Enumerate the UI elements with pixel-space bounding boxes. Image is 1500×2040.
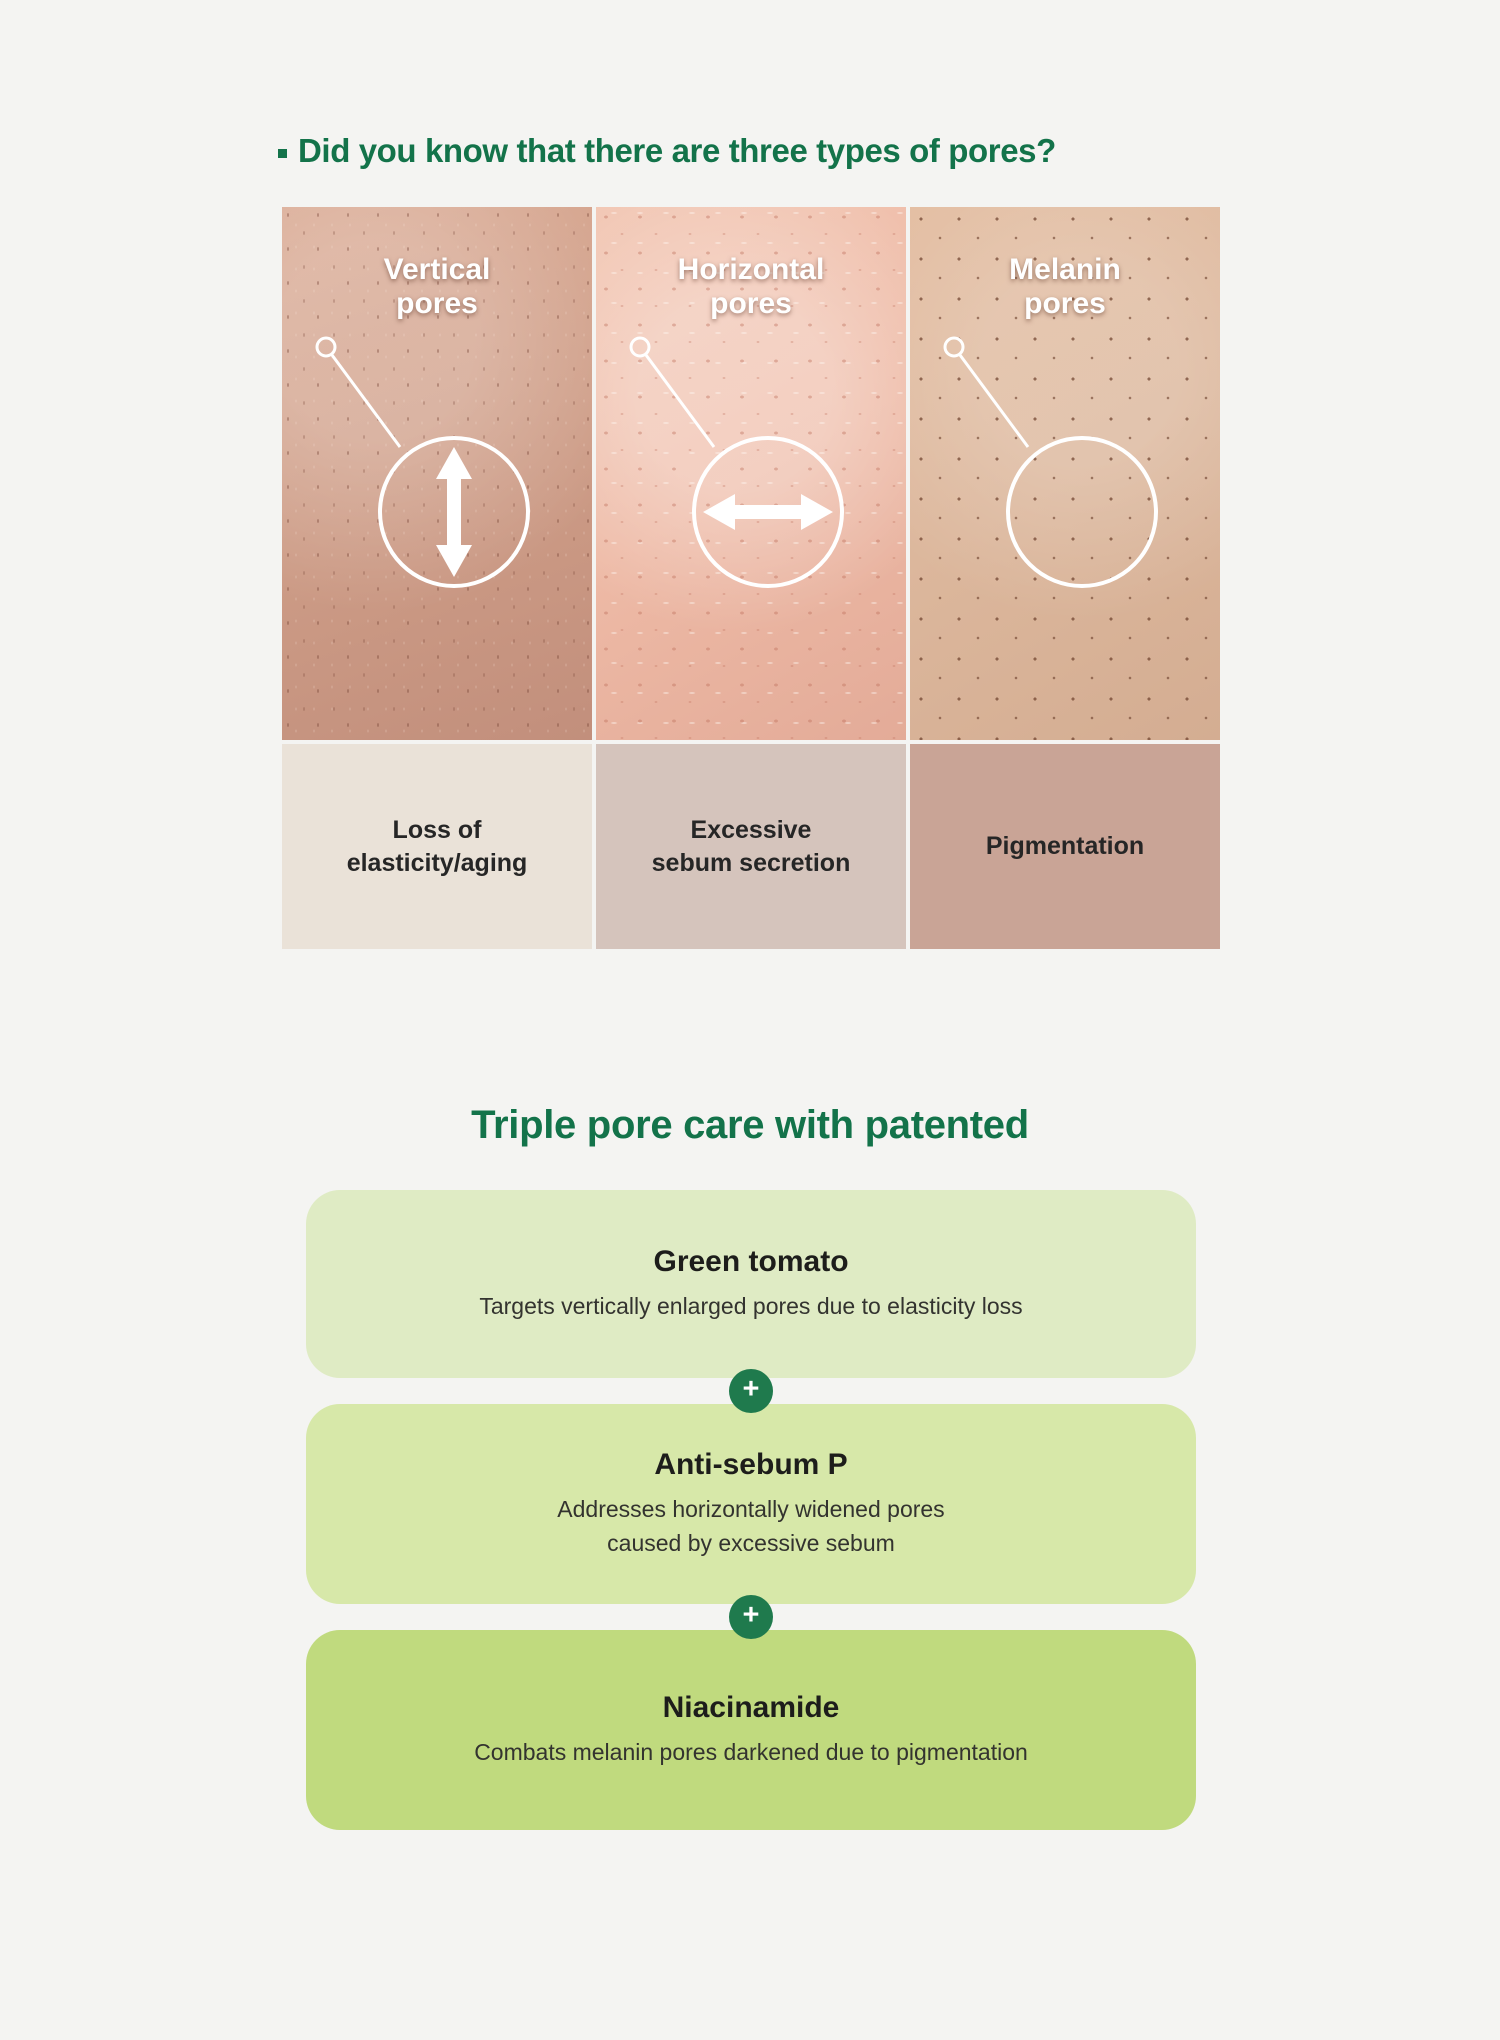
ingredient-title: Green tomato — [653, 1245, 848, 1279]
ingredient-title: Anti-sebum P — [654, 1448, 847, 1482]
pore-caption-horizontal: Excessive sebum secretion — [596, 744, 906, 949]
pore-image-row: Vertical pores Ho — [282, 207, 1220, 740]
ingredient-description: Targets vertically enlarged pores due to… — [479, 1290, 1022, 1323]
ingredient-title: Niacinamide — [663, 1691, 840, 1725]
pore-panel-label-melanin: Melanin pores — [910, 253, 1220, 321]
plus-connector-1: + — [306, 1378, 1196, 1404]
pore-types-board: Vertical pores Ho — [282, 207, 1220, 949]
pore-panel-melanin: Melanin pores — [910, 207, 1220, 740]
square-bullet-icon — [278, 149, 287, 158]
ingredient-card-anti-sebum-p[interactable]: Anti-sebum P Addresses horizontally wide… — [306, 1404, 1196, 1604]
page-heading-text: Did you know that there are three types … — [298, 132, 1056, 170]
pore-panel-vertical: Vertical pores — [282, 207, 592, 740]
ingredient-card-stack: Green tomato Targets vertically enlarged… — [306, 1190, 1196, 1830]
pore-panel-label-horizontal: Horizontal pores — [596, 253, 906, 321]
pore-caption-melanin: Pigmentation — [910, 744, 1220, 949]
pore-panel-horizontal: Horizontal pores — [596, 207, 906, 740]
pore-caption-row: Loss of elasticity/aging Excessive sebum… — [282, 744, 1220, 949]
ingredient-card-green-tomato[interactable]: Green tomato Targets vertically enlarged… — [306, 1190, 1196, 1378]
page-heading: Did you know that there are three types … — [278, 132, 1056, 170]
pore-panel-label-vertical: Vertical pores — [282, 253, 592, 321]
ingredient-card-niacinamide[interactable]: Niacinamide Combats melanin pores darken… — [306, 1630, 1196, 1830]
headline-line-1: Triple pore care with patented — [471, 1103, 1029, 1147]
plus-icon: + — [729, 1369, 773, 1413]
pore-caption-vertical: Loss of elasticity/aging — [282, 744, 592, 949]
plus-connector-2: + — [306, 1604, 1196, 1630]
ingredient-description: Addresses horizontally widened pores cau… — [557, 1493, 944, 1560]
ingredient-description: Combats melanin pores darkened due to pi… — [474, 1736, 1028, 1769]
plus-icon: + — [729, 1595, 773, 1639]
